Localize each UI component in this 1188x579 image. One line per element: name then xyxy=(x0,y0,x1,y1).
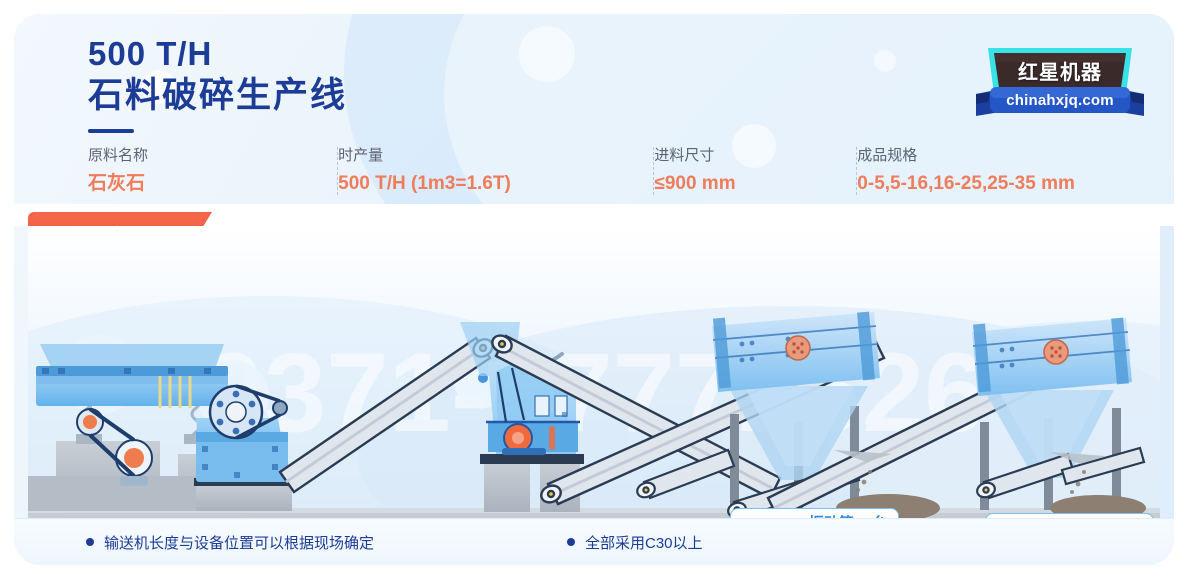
spec-value: ≤900 mm xyxy=(654,170,843,198)
footer-note-2: 全部采用C30以上 xyxy=(567,532,703,553)
footer-note-2-text: 全部采用C30以上 xyxy=(585,535,703,552)
poster-card: 500 T/H 石料破碎生产线 红星机器 chinahx xyxy=(14,14,1174,565)
bullet-icon xyxy=(86,538,94,546)
spec-label: 成品规格 xyxy=(857,145,1084,167)
title-capacity: 500 T/H xyxy=(88,34,347,74)
spec-label: 原料名称 xyxy=(88,145,324,167)
footer-notes: 输送机长度与设备位置可以根据现场确定 全部采用C30以上 xyxy=(14,518,1174,565)
spec-label: 进料尺寸 xyxy=(654,145,843,167)
spec-value: 0-5,5-16,16-25,25-35 mm xyxy=(857,170,1084,198)
poster: 500 T/H 石料破碎生产线 红星机器 chinahx xyxy=(0,0,1188,579)
header: 500 T/H 石料破碎生产线 红星机器 chinahx xyxy=(14,14,1174,204)
spec-label: 时产量 xyxy=(338,145,640,167)
footer-note-1-text: 输送机长度与设备位置可以根据现场确定 xyxy=(104,535,374,552)
spec-item-output-size: 成品规格 0-5,5-16,16-25,25-35 mm xyxy=(857,145,1098,204)
badge-brand-text: 红星机器 xyxy=(974,56,1146,85)
footer-note-1: 输送机长度与设备位置可以根据现场确定 xyxy=(86,532,374,553)
spec-row: 原料名称 石灰石 时产量 500 T/H (1m3=1.6T) 进料尺寸 ≤90… xyxy=(88,145,1098,204)
bullet-icon xyxy=(567,538,575,546)
process-flow-illustration: 0371-67772626 xyxy=(28,226,1160,536)
spec-item-capacity: 时产量 500 T/H (1m3=1.6T) xyxy=(338,145,654,204)
spec-item-feed-size: 进料尺寸 ≤900 mm xyxy=(654,145,857,204)
spec-item-material: 原料名称 石灰石 xyxy=(88,145,338,204)
title-product-line: 石料破碎生产线 xyxy=(88,73,347,119)
title-rule xyxy=(88,129,134,133)
badge-url-text: chinahxjq.com xyxy=(974,92,1146,109)
spec-value: 500 T/H (1m3=1.6T) xyxy=(338,170,640,198)
title-block: 500 T/H 石料破碎生产线 xyxy=(88,34,347,133)
spec-value: 石灰石 xyxy=(88,170,324,198)
brand-badge[interactable]: 红星机器 chinahxjq.com xyxy=(974,36,1146,120)
